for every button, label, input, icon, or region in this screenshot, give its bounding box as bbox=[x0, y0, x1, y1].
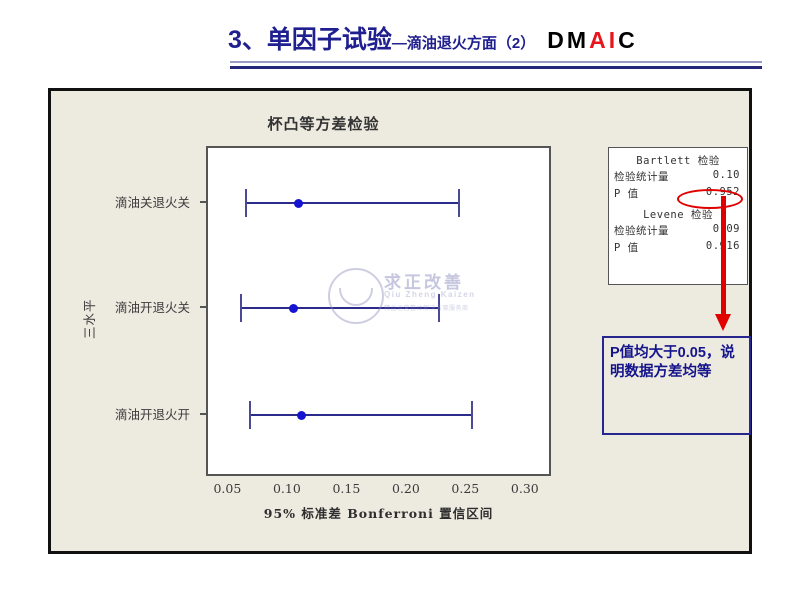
title-number: 3、 bbox=[228, 26, 267, 54]
watermark-chinese: 求正改善 bbox=[384, 268, 464, 293]
y-axis-tick-label: 滴油开退火关 bbox=[115, 297, 190, 316]
interval-upper-cap bbox=[458, 189, 460, 217]
dmaic-i: I bbox=[609, 27, 618, 53]
dmaic-d: D bbox=[547, 27, 567, 53]
dmaic-m: M bbox=[567, 27, 589, 53]
x-axis-tick-label: 0.10 bbox=[273, 481, 301, 496]
title-sub: —滴油退火方面（2） bbox=[392, 35, 535, 52]
levene-statistic-label: 检验统计量 bbox=[614, 223, 669, 238]
annotation-callout: P值均大于0.05，说明数据方差均等 bbox=[602, 336, 751, 435]
title-main: 单因子试验 bbox=[267, 26, 392, 54]
levene-pvalue-label: P 值 bbox=[614, 240, 639, 255]
arrow-shaft bbox=[721, 196, 726, 318]
chart-title: 杯凸等方差检验 bbox=[51, 113, 596, 134]
bartlett-header: Bartlett 检验 bbox=[609, 148, 747, 168]
title-divider-lower bbox=[230, 66, 762, 69]
slide-title-text: 3、单因子试验—滴油退火方面（2）DMAIC bbox=[228, 28, 764, 53]
dmaic-c: C bbox=[618, 27, 638, 53]
interval-lower-cap bbox=[249, 401, 251, 429]
interval-lower-cap bbox=[245, 189, 247, 217]
interval-lower-cap bbox=[240, 294, 242, 322]
y-axis-title: 三水平 bbox=[79, 298, 98, 339]
title-divider-upper bbox=[230, 61, 762, 63]
interval-center-point bbox=[289, 304, 298, 313]
arrow-head bbox=[715, 314, 731, 331]
interval-line bbox=[241, 307, 438, 309]
x-axis-tick-label: 0.25 bbox=[451, 481, 479, 496]
bartlett-pvalue-label: P 值 bbox=[614, 186, 639, 201]
x-axis-tick-label: 0.15 bbox=[332, 481, 360, 496]
bartlett-statistic-row: 检验统计量 0.10 bbox=[609, 168, 747, 185]
y-axis-tick-label: 滴油关退火关 bbox=[115, 192, 190, 211]
interval-center-point bbox=[297, 411, 306, 420]
callout-arrow-icon bbox=[715, 196, 731, 331]
watermark-mark-icon bbox=[328, 268, 384, 324]
interval-line bbox=[246, 202, 459, 204]
y-axis-tick-label: 滴油开退火开 bbox=[115, 404, 190, 423]
watermark-logo: 求正改善 Qiu Zheng Kaizen 精益运营整体解决方案服务商 bbox=[326, 266, 496, 324]
x-axis-title: 95% 标准差 Bonferroni 置信区间 bbox=[206, 503, 551, 522]
bartlett-statistic-value: 0.10 bbox=[713, 169, 740, 184]
slide-title: 3、单因子试验—滴油退火方面（2）DMAIC bbox=[228, 28, 764, 74]
x-axis-tick-label: 0.05 bbox=[213, 481, 241, 496]
chart-panel: 杯凸等方差检验 三水平 滴油关退火关滴油开退火关滴油开退火开 0.050.100… bbox=[48, 88, 752, 554]
dmaic-a: A bbox=[589, 27, 609, 53]
interval-line bbox=[250, 414, 472, 416]
bartlett-statistic-label: 检验统计量 bbox=[614, 169, 669, 184]
dmaic-indicator: DMAIC bbox=[547, 27, 637, 53]
interval-center-point bbox=[294, 199, 303, 208]
plot-area: 求正改善 Qiu Zheng Kaizen 精益运营整体解决方案服务商 bbox=[206, 146, 551, 476]
x-axis-tick-label: 0.30 bbox=[511, 481, 539, 496]
interval-upper-cap bbox=[438, 294, 440, 322]
watermark-english: Qiu Zheng Kaizen bbox=[384, 290, 476, 299]
x-axis-tick-label: 0.20 bbox=[392, 481, 420, 496]
interval-upper-cap bbox=[471, 401, 473, 429]
